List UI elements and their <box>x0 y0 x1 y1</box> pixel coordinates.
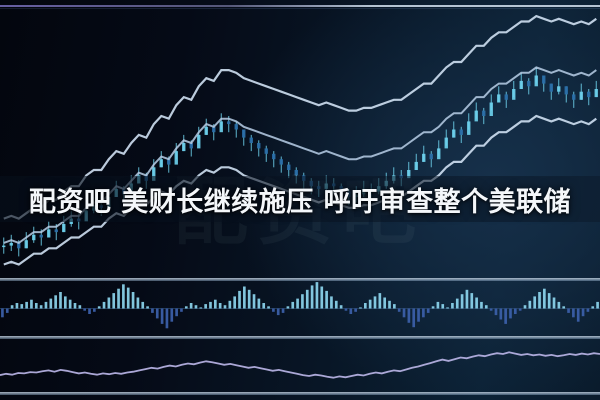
panel-separator-3 <box>0 392 600 395</box>
indicator-panel <box>0 339 600 392</box>
price-chart-panel <box>0 8 600 278</box>
top-highlight-rule <box>0 5 600 7</box>
macd-histogram <box>0 281 600 336</box>
news-thumbnail: 配资吧 配资吧 美财长继续施压 呼吁审查整个美联储 <box>0 0 600 400</box>
candlestick-chart <box>0 8 600 278</box>
macd-panel <box>0 281 600 336</box>
headline-text: 配资吧 美财长继续施压 呼吁审查整个美联储 <box>0 178 600 220</box>
indicator-line-chart <box>0 339 600 392</box>
